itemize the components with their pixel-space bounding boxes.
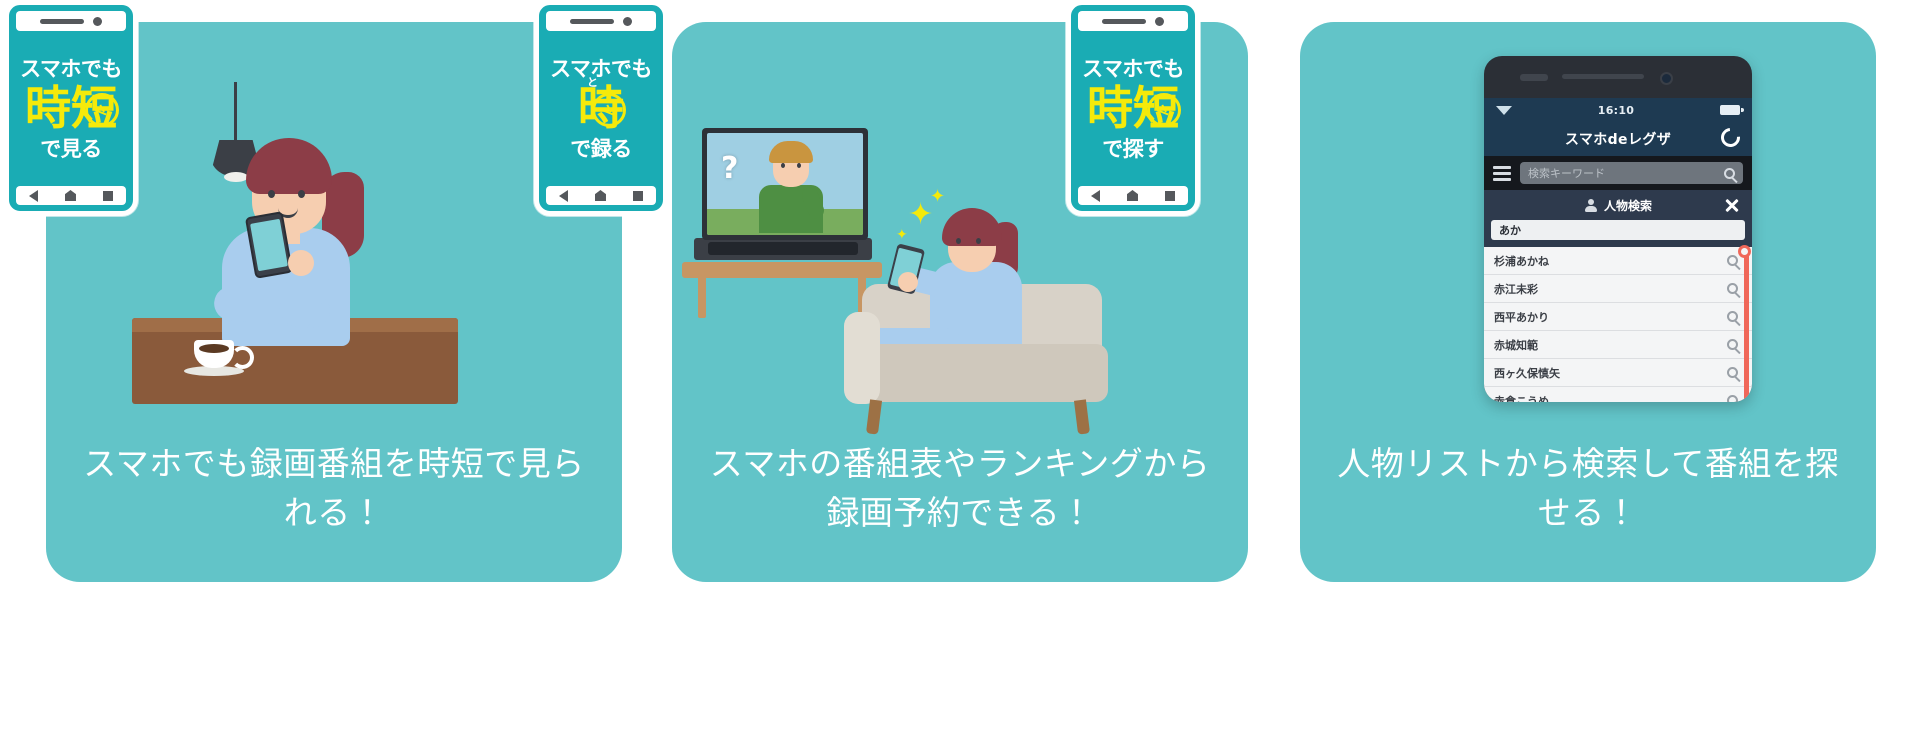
speaker-icon — [570, 19, 614, 24]
scrollbar[interactable] — [1744, 249, 1749, 402]
card-caption: 人物リストから検索して番組を探せる！ — [1300, 440, 1876, 538]
clock-icon — [1147, 93, 1181, 127]
battery-icon — [1720, 105, 1740, 115]
tv-stand-leg-left — [698, 276, 706, 318]
person-name: 西ヶ久保慎矢 — [1494, 365, 1560, 381]
sofa-person-hair — [942, 208, 1002, 246]
smartphone-mockup: 16:10 スマホdeレグザ 検索キーワード 人物検索 — [1484, 56, 1752, 402]
back-icon — [559, 190, 568, 202]
list-item[interactable]: 赤倉こうめ — [1484, 387, 1752, 402]
phone-search-bar: 検索キーワード — [1484, 156, 1752, 190]
question-mark: ? — [721, 151, 738, 186]
phone-earpiece-speaker — [1562, 74, 1644, 79]
badge-line3: で探す — [1102, 133, 1164, 163]
sofa-armrest — [844, 312, 880, 404]
tv-person-eye-right — [797, 163, 801, 168]
lamp-cord — [234, 82, 237, 144]
badge-phone-top — [1078, 11, 1188, 31]
card-caption: スマホでも録画番組を時短で見られる！ — [46, 440, 622, 538]
sofa-leg-left — [866, 399, 882, 434]
tv-screen: ? — [707, 133, 863, 235]
sparkle-icon: ✦ — [896, 228, 908, 242]
status-time: 16:10 — [1598, 104, 1635, 117]
speaker-icon — [1102, 19, 1146, 24]
coffee-cup-handle — [231, 346, 254, 369]
person-result-list[interactable]: 杉浦あかね 赤江未彩 西平あかり 赤城知範 — [1484, 247, 1752, 402]
badge-line1: スマホでも — [550, 53, 652, 83]
person-name: 赤倉こうめ — [1494, 393, 1549, 403]
home-icon — [65, 190, 76, 201]
back-icon — [1091, 190, 1100, 202]
phone-bezel-top — [1484, 56, 1752, 98]
keyword-input-wrap: あか — [1484, 220, 1752, 247]
badge-line1: スマホでも — [20, 53, 122, 83]
clock-icon — [85, 93, 119, 127]
home-icon — [1127, 190, 1138, 201]
app-title-bar: スマホdeレグザ — [1484, 122, 1752, 156]
badge-phone-navbar — [1078, 186, 1188, 205]
search-placeholder: 検索キーワード — [1528, 165, 1605, 181]
badge-line2: 時短 — [25, 85, 117, 131]
home-icon — [595, 190, 606, 201]
sofa-leg-right — [1074, 399, 1090, 434]
card-caption: スマホの番組表やランキングから録画予約できる！ — [672, 440, 1248, 538]
lamp-glow — [224, 172, 248, 182]
person-search-header: 人物検索 — [1484, 190, 1752, 220]
badge-line3: で録る — [570, 133, 632, 163]
person-search-title: 人物検索 — [1604, 197, 1652, 214]
recent-apps-icon — [103, 191, 113, 201]
clock-icon — [592, 93, 626, 127]
search-input[interactable]: 検索キーワード — [1520, 162, 1743, 184]
badge-line1: スマホでも — [1082, 53, 1184, 83]
recent-apps-icon — [1165, 191, 1175, 201]
magnifier-icon[interactable] — [1724, 168, 1735, 179]
scrollbar-thumb[interactable] — [1738, 245, 1751, 258]
recent-apps-icon — [633, 191, 643, 201]
badge-content: スマホでも 時短 で探す — [1071, 35, 1195, 181]
back-icon — [29, 190, 38, 202]
keyword-value: あか — [1499, 222, 1521, 238]
sparkle-icon: ✦ — [930, 188, 945, 206]
list-item[interactable]: 赤江未彩 — [1484, 275, 1752, 303]
magnifier-icon[interactable] — [1727, 255, 1738, 266]
woman-eye-left — [268, 190, 275, 198]
illustration-phone-screenshot: 16:10 スマホdeレグザ 検索キーワード 人物検索 — [1300, 22, 1876, 440]
badge-search: スマホでも 時短 で探す — [1066, 0, 1200, 216]
badge-content: スマホでも 時短 で見る — [9, 35, 133, 181]
sofa-person-hand — [898, 272, 918, 292]
magnifier-icon[interactable] — [1727, 311, 1738, 322]
tv-stand-top — [682, 262, 882, 278]
feature-card-search[interactable]: 16:10 スマホdeレグザ 検索キーワード 人物検索 — [1300, 22, 1876, 582]
badge-content: スマホでも 時 と で録る — [539, 35, 663, 181]
badge-phone-navbar — [546, 186, 656, 205]
speaker-icon — [40, 19, 84, 24]
keyword-input[interactable]: あか — [1491, 220, 1745, 240]
coffee-liquid — [199, 344, 229, 353]
close-icon[interactable] — [1724, 197, 1740, 213]
badge-watch: スマホでも 時短 で見る — [4, 0, 138, 216]
tv-frame: ? — [702, 128, 868, 240]
badge-line3: で見る — [40, 133, 102, 163]
page-root: スマホでも録画番組を時短で見られる！ ? — [0, 0, 1920, 732]
camera-icon — [1155, 17, 1164, 26]
magnifier-icon[interactable] — [1727, 283, 1738, 294]
camera-icon — [93, 17, 102, 26]
sofa-seat — [850, 344, 1108, 402]
camera-icon — [623, 17, 632, 26]
person-name: 西平あかり — [1494, 309, 1549, 325]
phone-sensor — [1520, 74, 1548, 81]
phone-status-bar: 16:10 — [1484, 98, 1752, 122]
badge-phone-top — [16, 11, 126, 31]
magnifier-icon[interactable] — [1727, 339, 1738, 350]
woman-eye-right — [298, 190, 305, 198]
hamburger-menu-icon[interactable] — [1493, 166, 1511, 181]
person-name: 杉浦あかね — [1494, 253, 1549, 269]
magnifier-icon[interactable] — [1727, 395, 1738, 402]
list-item[interactable]: 西ヶ久保慎矢 — [1484, 359, 1752, 387]
list-item[interactable]: 赤城知範 — [1484, 331, 1752, 359]
badge-line2: 時 と — [578, 85, 624, 131]
held-smartphone-screen — [250, 219, 288, 271]
badge-phone-navbar — [16, 186, 126, 205]
soundbar — [708, 242, 858, 255]
badge-line2: 時短 — [1087, 85, 1179, 131]
sofa-person-eye-right — [976, 238, 981, 244]
woman-hand — [288, 250, 314, 276]
person-icon — [1584, 199, 1597, 212]
magnifier-icon[interactable] — [1727, 367, 1738, 378]
list-item[interactable]: 西平あかり — [1484, 303, 1752, 331]
wifi-icon — [1496, 106, 1512, 115]
reload-icon[interactable] — [1717, 124, 1744, 151]
tv-person-hair — [769, 141, 813, 163]
person-name: 赤城知範 — [1494, 337, 1538, 353]
woman-hair — [246, 138, 332, 194]
app-title: スマホdeレグザ — [1565, 129, 1671, 149]
list-item[interactable]: 杉浦あかね — [1484, 247, 1752, 275]
front-camera-icon — [1660, 72, 1673, 85]
badge-record: スマホでも 時 と で録る — [534, 0, 668, 216]
sofa-person-eye-left — [956, 238, 961, 244]
tv-person-eye-left — [781, 163, 785, 168]
badge-phone-top — [546, 11, 656, 31]
person-name: 赤江未彩 — [1494, 281, 1538, 297]
badge-small-kana: と — [587, 77, 598, 88]
